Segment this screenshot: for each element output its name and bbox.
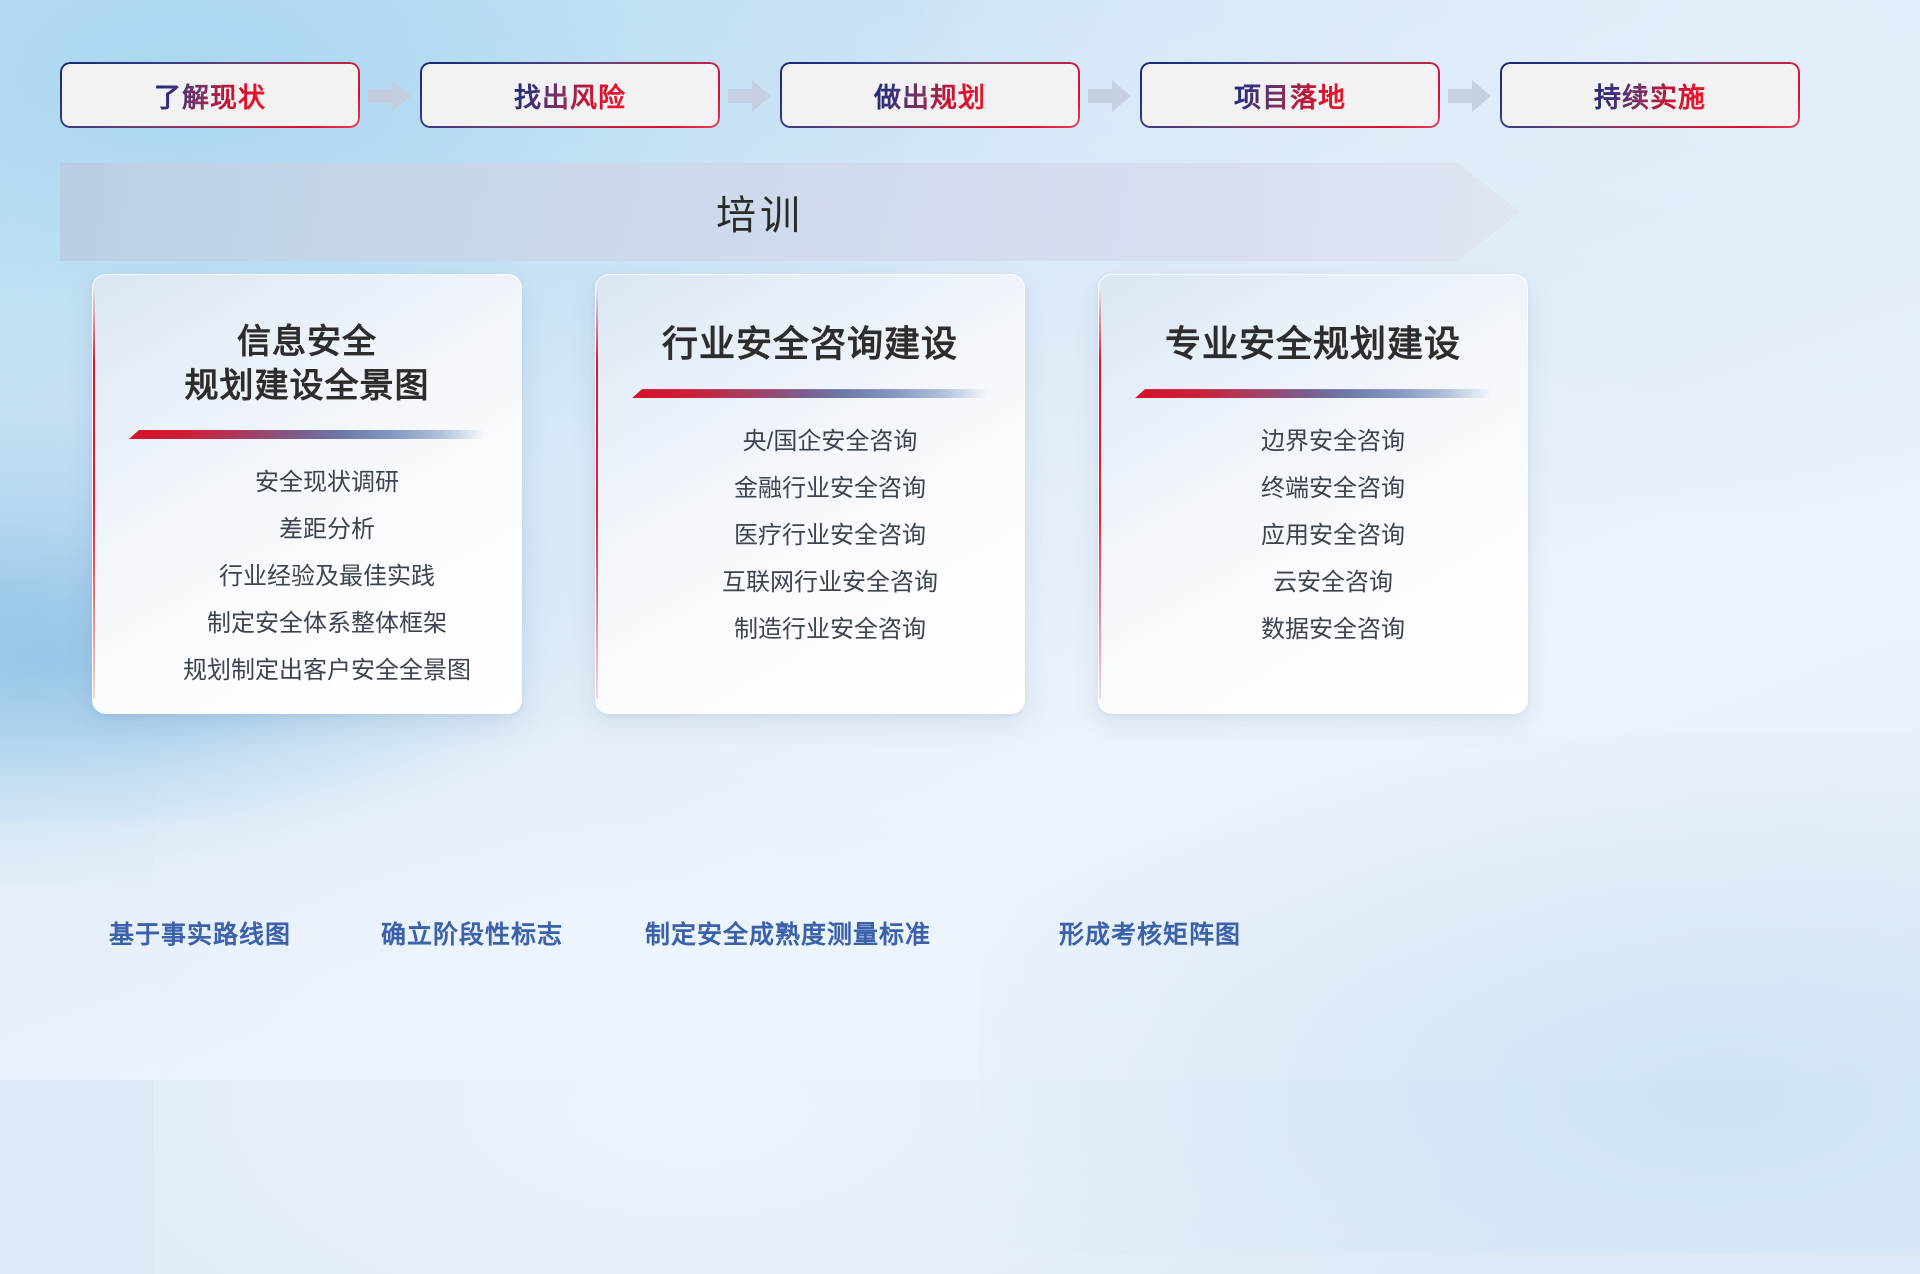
card-item-list: 安全现状调研差距分析行业经验及最佳实践制定安全体系整体框架规划制定出客户安全全景…: [119, 465, 495, 689]
card-divider-bar: [632, 389, 988, 398]
service-card-2[interactable]: 行业安全咨询建设央/国企安全咨询金融行业安全咨询医疗行业安全咨询互联网行业安全咨…: [595, 274, 1025, 714]
list-item[interactable]: 互联网行业安全咨询: [722, 565, 938, 601]
list-item[interactable]: 云安全咨询: [1273, 565, 1393, 601]
process-step-label: 了解现状: [154, 76, 266, 115]
card-divider: [1135, 389, 1491, 398]
card-title: 信息安全 规划建设全景图: [119, 321, 495, 408]
service-card-3[interactable]: 专业安全规划建设边界安全咨询终端安全咨询应用安全咨询云安全咨询数据安全咨询: [1098, 274, 1528, 714]
list-item[interactable]: 差距分析: [279, 512, 375, 548]
card-title: 专业安全规划建设: [1125, 321, 1501, 367]
process-step-label: 做出规划: [874, 76, 986, 115]
list-item[interactable]: 应用安全咨询: [1261, 518, 1405, 554]
training-banner: 培训: [60, 163, 1520, 261]
card-divider: [632, 389, 988, 398]
list-item[interactable]: 金融行业安全咨询: [734, 471, 926, 507]
list-item[interactable]: 终端安全咨询: [1261, 471, 1405, 507]
list-item[interactable]: 安全现状调研: [255, 465, 399, 501]
arrow-right-icon: [1440, 75, 1500, 115]
process-step-1[interactable]: 了解现状: [60, 62, 360, 128]
process-step-5[interactable]: 持续实施: [1500, 62, 1800, 128]
process-step-label: 持续实施: [1594, 76, 1706, 115]
footer-label-group: 基于事实路线图确立阶段性标志制定安全成熟度测量标准形成考核矩阵图: [0, 915, 1920, 955]
process-step-3[interactable]: 做出规划: [780, 62, 1080, 128]
card-item-list: 央/国企安全咨询金融行业安全咨询医疗行业安全咨询互联网行业安全咨询制造行业安全咨…: [622, 424, 998, 648]
footer-label-1: 基于事实路线图: [109, 915, 291, 951]
arrow-right-icon: [360, 75, 420, 115]
list-item[interactable]: 规划制定出客户安全全景图: [183, 653, 471, 689]
process-step-label: 项目落地: [1234, 76, 1346, 115]
arrow-right-icon: [1080, 75, 1140, 115]
card-group: 信息安全 规划建设全景图安全现状调研差距分析行业经验及最佳实践制定安全体系整体框…: [92, 274, 1528, 714]
list-item[interactable]: 制造行业安全咨询: [734, 612, 926, 648]
process-flow: 了解现状找出风险做出规划项目落地持续实施: [60, 62, 1860, 128]
card-divider: [129, 430, 485, 439]
service-card-1[interactable]: 信息安全 规划建设全景图安全现状调研差距分析行业经验及最佳实践制定安全体系整体框…: [92, 274, 522, 714]
list-item[interactable]: 央/国企安全咨询: [743, 424, 918, 460]
training-banner-label: 培训: [60, 163, 1460, 261]
process-step-2[interactable]: 找出风险: [420, 62, 720, 128]
card-title: 行业安全咨询建设: [622, 321, 998, 367]
footer-label-3: 制定安全成熟度测量标准: [645, 915, 931, 951]
arrow-right-icon: [720, 75, 780, 115]
process-step-label: 找出风险: [514, 76, 626, 115]
list-item[interactable]: 数据安全咨询: [1261, 612, 1405, 648]
card-divider-bar: [1135, 389, 1491, 398]
card-item-list: 边界安全咨询终端安全咨询应用安全咨询云安全咨询数据安全咨询: [1125, 424, 1501, 648]
process-step-4[interactable]: 项目落地: [1140, 62, 1440, 128]
list-item[interactable]: 边界安全咨询: [1261, 424, 1405, 460]
footer-label-2: 确立阶段性标志: [381, 915, 563, 951]
footer-label-4: 形成考核矩阵图: [1059, 915, 1241, 951]
list-item[interactable]: 行业经验及最佳实践: [219, 559, 435, 595]
card-divider-bar: [129, 430, 485, 439]
list-item[interactable]: 制定安全体系整体框架: [207, 606, 447, 642]
list-item[interactable]: 医疗行业安全咨询: [734, 518, 926, 554]
